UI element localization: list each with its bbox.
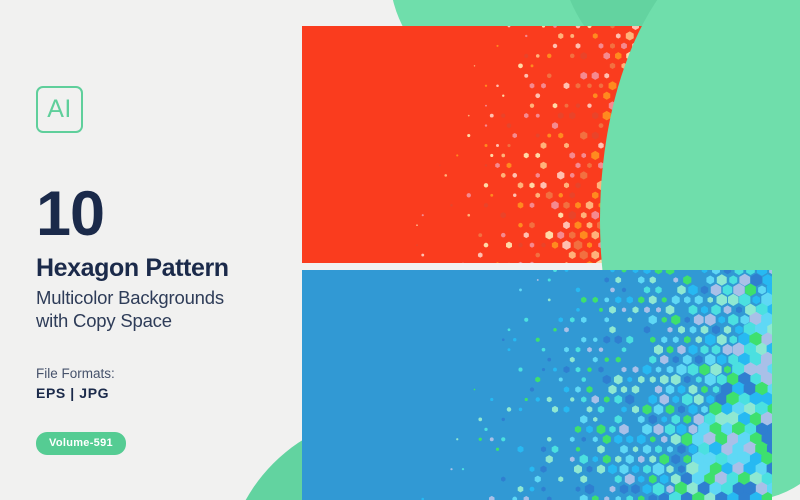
item-count: 10: [36, 186, 286, 244]
poster-canvas: AI 10 Hexagon Pattern Multicolor Backgro…: [0, 0, 800, 500]
page-subtitle: Multicolor Backgrounds with Copy Space: [36, 286, 286, 333]
info-column: AI 10 Hexagon Pattern Multicolor Backgro…: [36, 86, 286, 455]
page-title: Hexagon Pattern: [36, 254, 286, 283]
ai-file-icon: AI: [36, 86, 83, 133]
volume-badge: Volume-591: [36, 432, 126, 455]
file-formats-value: EPS | JPG: [36, 385, 286, 401]
subtitle-line-2: with Copy Space: [36, 310, 172, 331]
subtitle-line-1: Multicolor Backgrounds: [36, 287, 224, 308]
blue-hexagon-preview[interactable]: [302, 270, 772, 500]
file-formats-label: File Formats:: [36, 366, 286, 381]
blue-hexagon-pattern: [302, 270, 772, 500]
ai-badge-label: AI: [47, 95, 72, 124]
